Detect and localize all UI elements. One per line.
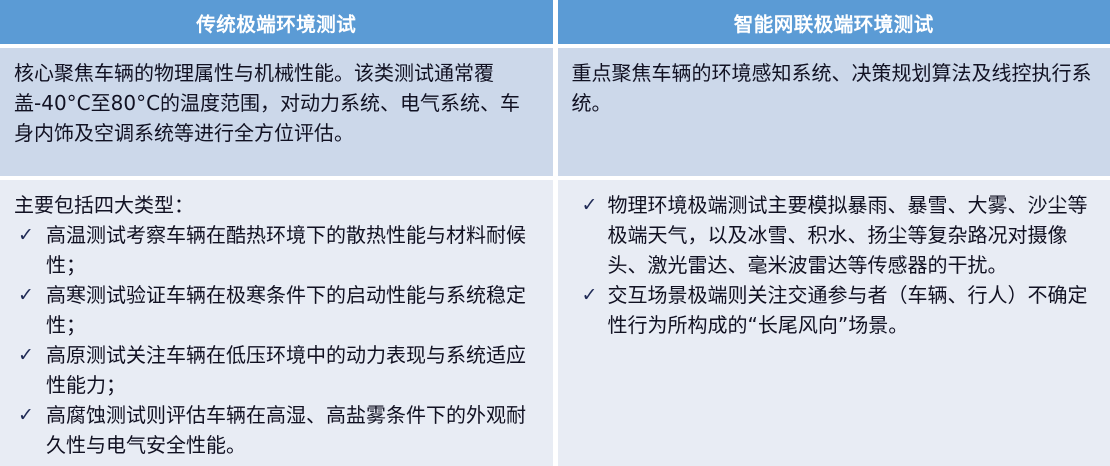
check-icon: ✓ [18,400,34,430]
cell-intelligent-details: ✓ 物理环境极端测试主要模拟暴雨、暴雪、大雾、沙尘等极端天气，以及冰雪、积水、扬… [558,180,1110,466]
check-icon: ✓ [582,190,598,220]
comparison-table: 传统极端环境测试 智能网联极端环境测试 核心聚焦车辆的物理属性与机械性能。该类测… [0,0,1110,456]
check-icon: ✓ [18,340,34,370]
intelligent-summary-text: 重点聚焦车辆的环境感知系统、决策规划算法及线控执行系统。 [572,58,1097,118]
cell-intelligent-summary: 重点聚焦车辆的环境感知系统、决策规划算法及线控执行系统。 [558,48,1110,176]
table-row-details: 主要包括四大类型： ✓ 高温测试考察车辆在酷热环境下的散热性能与材料耐候性； ✓… [0,180,1110,466]
list-item-text: 高温测试考察车辆在酷热环境下的散热性能与材料耐候性； [46,223,526,277]
list-item-text: 高腐蚀测试则评估车辆在高湿、高盐雾条件下的外观耐久性与电气安全性能。 [46,403,526,457]
list-item-text: 高原测试关注车辆在低压环境中的动力表现与系统适应性能力； [46,343,526,397]
cell-traditional-details: 主要包括四大类型： ✓ 高温测试考察车辆在酷热环境下的散热性能与材料耐候性； ✓… [0,180,553,466]
list-item-text: 物理环境极端测试主要模拟暴雨、暴雪、大雾、沙尘等极端天气，以及冰雪、积水、扬尘等… [608,193,1088,277]
traditional-details-lead: 主要包括四大类型： [14,190,539,220]
check-icon: ✓ [582,280,598,310]
check-icon: ✓ [18,280,34,310]
list-item: ✓ 高腐蚀测试则评估车辆在高湿、高盐雾条件下的外观耐久性与电气安全性能。 [14,400,539,460]
column-header-traditional: 传统极端环境测试 [0,0,553,44]
traditional-summary-text: 核心聚焦车辆的物理属性与机械性能。该类测试通常覆盖-40°C至80°C的温度范围… [14,58,539,148]
table-header-row: 传统极端环境测试 智能网联极端环境测试 [0,0,1110,44]
list-item: ✓ 高原测试关注车辆在低压环境中的动力表现与系统适应性能力； [14,340,539,400]
list-item: ✓ 高温测试考察车辆在酷热环境下的散热性能与材料耐候性； [14,220,539,280]
list-item: ✓ 物理环境极端测试主要模拟暴雨、暴雪、大雾、沙尘等极端天气，以及冰雪、积水、扬… [572,190,1097,280]
list-item-text: 高寒测试验证车辆在极寒条件下的启动性能与系统稳定性； [46,283,526,337]
column-header-intelligent-connected: 智能网联极端环境测试 [558,0,1110,44]
list-item: ✓ 交互场景极端则关注交通参与者（车辆、行人）不确定性行为所构成的“长尾风向”场… [572,280,1097,340]
intelligent-bullet-list: ✓ 物理环境极端测试主要模拟暴雨、暴雪、大雾、沙尘等极端天气，以及冰雪、积水、扬… [572,190,1097,340]
cell-traditional-summary: 核心聚焦车辆的物理属性与机械性能。该类测试通常覆盖-40°C至80°C的温度范围… [0,48,553,176]
traditional-bullet-list: ✓ 高温测试考察车辆在酷热环境下的散热性能与材料耐候性； ✓ 高寒测试验证车辆在… [14,220,539,460]
list-item: ✓ 高寒测试验证车辆在极寒条件下的启动性能与系统稳定性； [14,280,539,340]
list-item-text: 交互场景极端则关注交通参与者（车辆、行人）不确定性行为所构成的“长尾风向”场景。 [608,283,1088,337]
check-icon: ✓ [18,220,34,250]
table-row-summary: 核心聚焦车辆的物理属性与机械性能。该类测试通常覆盖-40°C至80°C的温度范围… [0,48,1110,176]
